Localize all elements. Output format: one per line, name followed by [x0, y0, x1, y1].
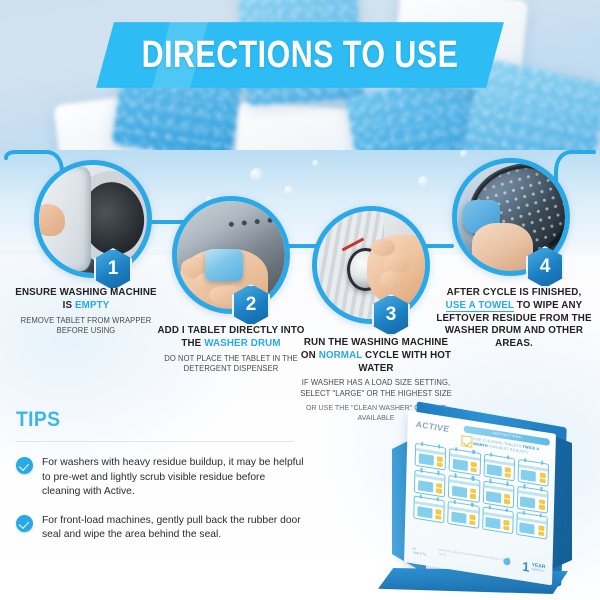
calendar-cell	[449, 448, 481, 476]
step-1-text: ENSURE WASHING MACHINE IS EMPTY REMOVE T…	[6, 286, 166, 337]
page-title: DIRECTIONS TO USE	[137, 22, 463, 88]
check-icon	[16, 457, 33, 474]
product-box: ACTIVE INSTRUCTIONS USE CLEANING TABLETS…	[318, 416, 600, 600]
tip-text: For washers with heavy residue buildup, …	[42, 456, 306, 500]
yellow-check-icon	[461, 435, 472, 448]
step-4-text: AFTER CYCLE IS FINISHED, USE A TOWEL TO …	[430, 286, 598, 350]
hand-holding-tablet-photo	[172, 196, 290, 314]
calendar-cell	[448, 475, 480, 503]
droplet-2	[284, 186, 293, 195]
tips-section: TIPS For washers with heavy residue buil…	[16, 408, 306, 543]
box-tablet-count: 24 TABLETS	[412, 548, 426, 557]
infographic-poster: DIRECTIONS TO USE 1 ENSURE WASHING MACHI…	[0, 0, 600, 600]
title-banner: DIRECTIONS TO USE	[0, 22, 600, 92]
step-2-sub: DO NOT PLACE THE TABLET IN THE DETERGENT…	[152, 354, 310, 375]
calendar-cell	[414, 469, 446, 497]
check-icon	[16, 515, 33, 532]
tips-divider	[16, 441, 294, 442]
calendar-cell	[483, 454, 515, 482]
calendar-cell	[517, 459, 549, 487]
droplet-1	[250, 168, 264, 182]
droplet-3	[312, 160, 319, 167]
calendar-cell	[415, 443, 447, 471]
step-1-heading: ENSURE WASHING MACHINE IS EMPTY	[12, 286, 161, 312]
calendar-cell	[447, 501, 479, 529]
calendar-grid	[413, 443, 549, 540]
calendar-cell	[517, 485, 549, 513]
droplet-4	[418, 176, 429, 187]
step-2-heading: ADD I TABLET DIRECTLY INTO THE WASHER DR…	[152, 324, 310, 350]
tip-text: For front-load machines, gently pull bac…	[42, 514, 306, 543]
step-3-sub: IF WASHER HAS A LOAD SIZE SETTING, SELEC…	[298, 378, 454, 399]
washer-dial-photo	[312, 206, 430, 324]
tips-title: TIPS	[16, 408, 283, 432]
box-fine-print: MANUFACTURED IN AN FDA APPROVED FACILITY…	[438, 549, 512, 567]
step-4-heading: AFTER CYCLE IS FINISHED, USE A TOWEL TO …	[436, 286, 592, 350]
year-number: 1	[522, 560, 530, 574]
calendar-cell	[482, 506, 514, 534]
step-1-sub: REMOVE TABLET FROM WRAPPER BEFORE USING	[12, 316, 161, 337]
tip-item: For front-load machines, gently pull bac…	[16, 514, 306, 543]
calendar-cell	[516, 512, 548, 540]
step-2-text: ADD I TABLET DIRECTLY INTO THE WASHER DR…	[146, 324, 316, 375]
tip-item: For washers with heavy residue buildup, …	[16, 456, 306, 500]
box-instruction-card: ACTIVE INSTRUCTIONS USE CLEANING TABLETS…	[404, 411, 556, 586]
washing-machine-door-photo	[34, 160, 152, 278]
calendar-cell	[413, 496, 445, 524]
year-label: YEAR SUPPLY	[531, 563, 545, 574]
box-year-supply: 1 YEAR SUPPLY	[522, 560, 545, 577]
calendar-cell	[482, 480, 514, 508]
box-brand: ACTIVE	[416, 419, 450, 434]
droplet-6	[460, 150, 468, 158]
